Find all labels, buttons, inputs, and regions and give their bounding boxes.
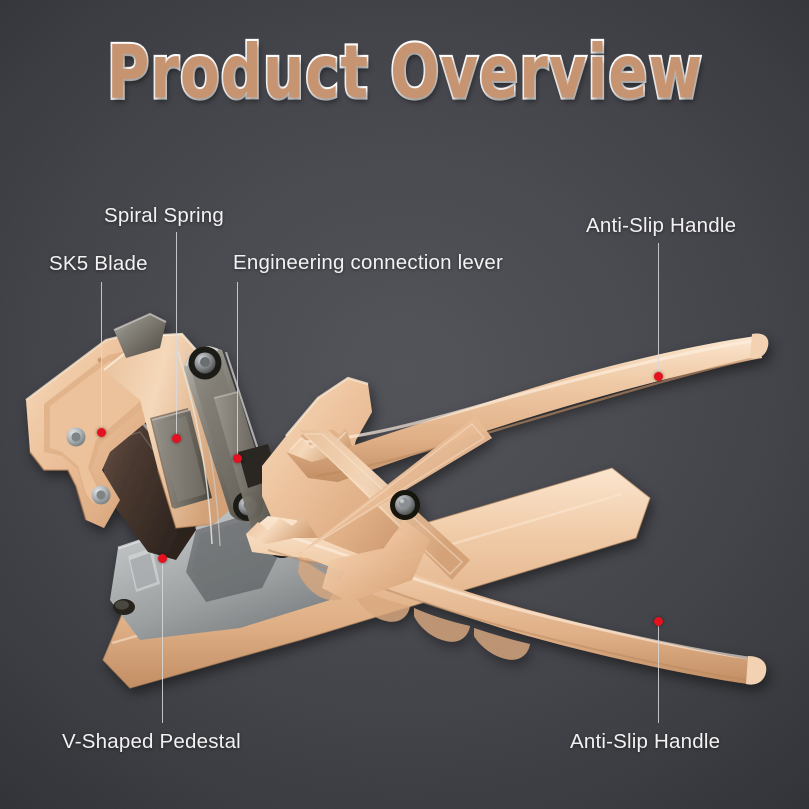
product-overview-image: Product Overview Spiral Spring SK5 Blade…	[0, 0, 809, 809]
leader-line-engineering-connection-lever	[237, 282, 238, 456]
product-illustration	[0, 0, 809, 809]
callout-dot-engineering-connection-lever	[233, 454, 242, 463]
leader-line-spiral-spring	[176, 232, 177, 436]
callout-label-engineering-connection-lever: Engineering connection lever	[233, 251, 503, 275]
callout-label-spiral-spring: Spiral Spring	[104, 204, 224, 228]
callout-label-anti-slip-handle-top: Anti-Slip Handle	[586, 214, 736, 238]
leader-line-anti-slip-handle-bottom	[658, 626, 659, 723]
callout-dot-anti-slip-handle-top	[654, 372, 663, 381]
callout-dot-spiral-spring	[172, 434, 181, 443]
callout-label-v-shaped-pedestal: V-Shaped Pedestal	[62, 730, 241, 754]
pivot-bolt	[390, 490, 420, 520]
callout-label-anti-slip-handle-bottom: Anti-Slip Handle	[570, 730, 720, 754]
leader-line-sk5-blade	[101, 282, 102, 430]
callout-dot-v-shaped-pedestal	[158, 554, 167, 563]
leader-line-v-shaped-pedestal	[162, 562, 163, 723]
callout-dot-anti-slip-handle-bottom	[654, 617, 663, 626]
callout-label-sk5-blade: SK5 Blade	[49, 252, 148, 276]
callout-dot-sk5-blade	[97, 428, 106, 437]
leader-line-anti-slip-handle-top	[658, 243, 659, 374]
